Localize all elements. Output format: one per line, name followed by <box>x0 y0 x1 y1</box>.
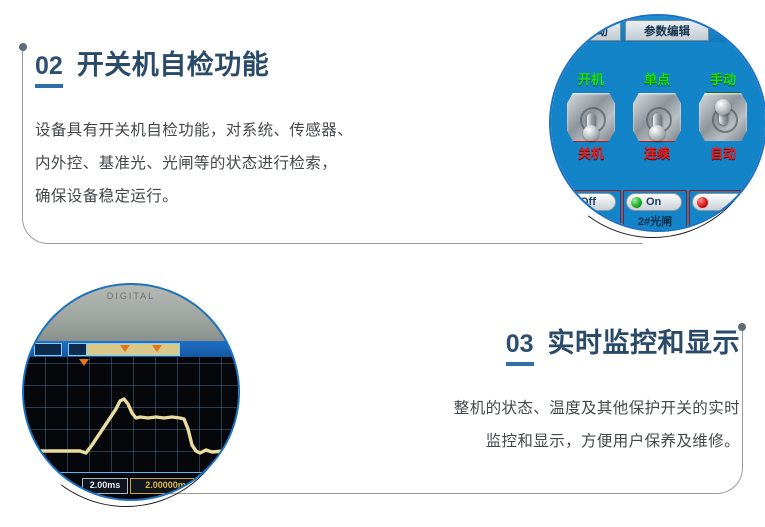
toggle-switch-2-bottom-label: 连续 <box>629 146 685 162</box>
section-03-body-line-1: 整机的状态、温度及其他保护开关的实时 <box>300 392 740 425</box>
toggle-switch-2[interactable]: 单点 连续 <box>629 72 685 162</box>
oscilloscope-waveform <box>24 357 238 473</box>
toggle-switch-3-body[interactable] <box>695 91 751 143</box>
oscilloscope-menu-chip-1 <box>34 343 62 356</box>
oscilloscope-hood: DIGITAL <box>24 285 238 341</box>
toggle-switch-3-top-label: 手动 <box>695 72 751 88</box>
shutter-control-2-pill[interactable]: On <box>626 193 682 211</box>
shutter-control-1[interactable]: Off 闸 <box>557 190 621 230</box>
section-02-number: 02 <box>35 54 63 88</box>
timebase-readout: 2.00ms <box>82 478 128 494</box>
oscilloscope-menu-chip-3 <box>86 343 180 356</box>
toggle-switch-1-body[interactable] <box>563 91 619 143</box>
section-02-text-block: 02 开关机自检功能 设备具有开关机自检功能，对系统、传感器、 内外控、基准光、… <box>35 52 505 213</box>
section-02-body-line-1: 设备具有开关机自检功能，对系统、传感器、 <box>35 114 505 147</box>
section-03-title: 实时监控和显示 <box>548 330 741 357</box>
control-panel-photo: 动 参数编辑 开机 关机 单点 <box>551 16 765 230</box>
toggle-switch-2-body[interactable] <box>629 91 685 143</box>
shutter-control-2-caption: 2#光闸 <box>624 213 686 229</box>
toggle-switch-2-knob[interactable] <box>649 125 665 141</box>
oscilloscope-brand-text: DIGITAL <box>107 291 155 301</box>
section-03-body: 整机的状态、温度及其他保护开关的实时 监控和显示，方便用户保养及维修。 <box>300 392 740 458</box>
toggle-switch-3-knob[interactable] <box>715 99 731 115</box>
shutter-control-1-pill[interactable]: Off <box>560 193 616 211</box>
shutter-control-3[interactable] <box>689 190 753 230</box>
control-panel: 动 参数编辑 开机 关机 单点 <box>551 16 765 230</box>
toggle-switch-1-top-label: 开机 <box>563 72 619 88</box>
panel-tab-2[interactable]: 参数编辑 <box>625 20 709 41</box>
shutter-control-2[interactable]: On 2#光闸 <box>623 190 687 230</box>
section-03-text-block: 03 实时监控和显示 整机的状态、温度及其他保护开关的实时 监控和显示，方便用户… <box>300 330 740 458</box>
section-03-heading: 03 实时监控和显示 <box>300 330 740 366</box>
toggle-switch-1[interactable]: 开机 关机 <box>563 72 619 162</box>
trigger-marker-1-icon <box>79 359 89 366</box>
section-02-body-line-2: 内外控、基准光、光闸等的状态进行检索， <box>35 147 505 180</box>
oscilloscope-footer: 2.00ms 2.00000ms <box>24 472 238 499</box>
panel-control-row: Off 闸 On 2#光闸 <box>551 186 765 230</box>
section-03-body-line-2: 监控和显示，方便用户保养及维修。 <box>300 425 740 458</box>
toggle-switch-1-knob[interactable] <box>583 125 599 141</box>
page-root: 02 开关机自检功能 设备具有开关机自检功能，对系统、传感器、 内外控、基准光、… <box>0 0 765 527</box>
status-led-green-2 <box>631 197 642 208</box>
shutter-control-3-pill[interactable] <box>692 193 748 211</box>
oscilloscope: DIGITAL 2.00ms 2.00000ms <box>24 285 238 499</box>
panel-tab-1[interactable]: 动 <box>583 20 621 41</box>
toggle-switch-3[interactable]: 手动 自动 <box>695 72 751 162</box>
status-led-red-3 <box>697 197 708 208</box>
section-02-body: 设备具有开关机自检功能，对系统、传感器、 内外控、基准光、光闸等的状态进行检索，… <box>35 114 505 213</box>
shutter-control-1-state: Off <box>580 196 596 208</box>
section-02-body-line-3: 确保设备稳定运行。 <box>35 180 505 213</box>
toggle-switch-2-top-label: 单点 <box>629 72 685 88</box>
oscilloscope-photo: DIGITAL 2.00ms 2.00000ms <box>24 285 238 499</box>
status-led-red-1 <box>565 197 576 208</box>
shutter-control-2-state: On <box>646 196 661 208</box>
toggle-switch-1-bottom-label: 关机 <box>563 146 619 162</box>
section-02-heading: 02 开关机自检功能 <box>35 52 505 88</box>
section-02-title: 开关机自检功能 <box>77 52 270 79</box>
section-03-number: 03 <box>506 332 534 366</box>
shutter-control-1-caption: 闸 <box>558 213 620 229</box>
section-02-frame-dot <box>19 43 27 51</box>
trigger-marker-3-icon <box>152 345 162 352</box>
trigger-marker-2-icon <box>120 345 130 352</box>
delay-readout: 2.00000ms <box>130 478 206 494</box>
toggle-switch-3-bottom-label: 自动 <box>695 146 751 162</box>
oscilloscope-menu-bar <box>24 341 238 358</box>
